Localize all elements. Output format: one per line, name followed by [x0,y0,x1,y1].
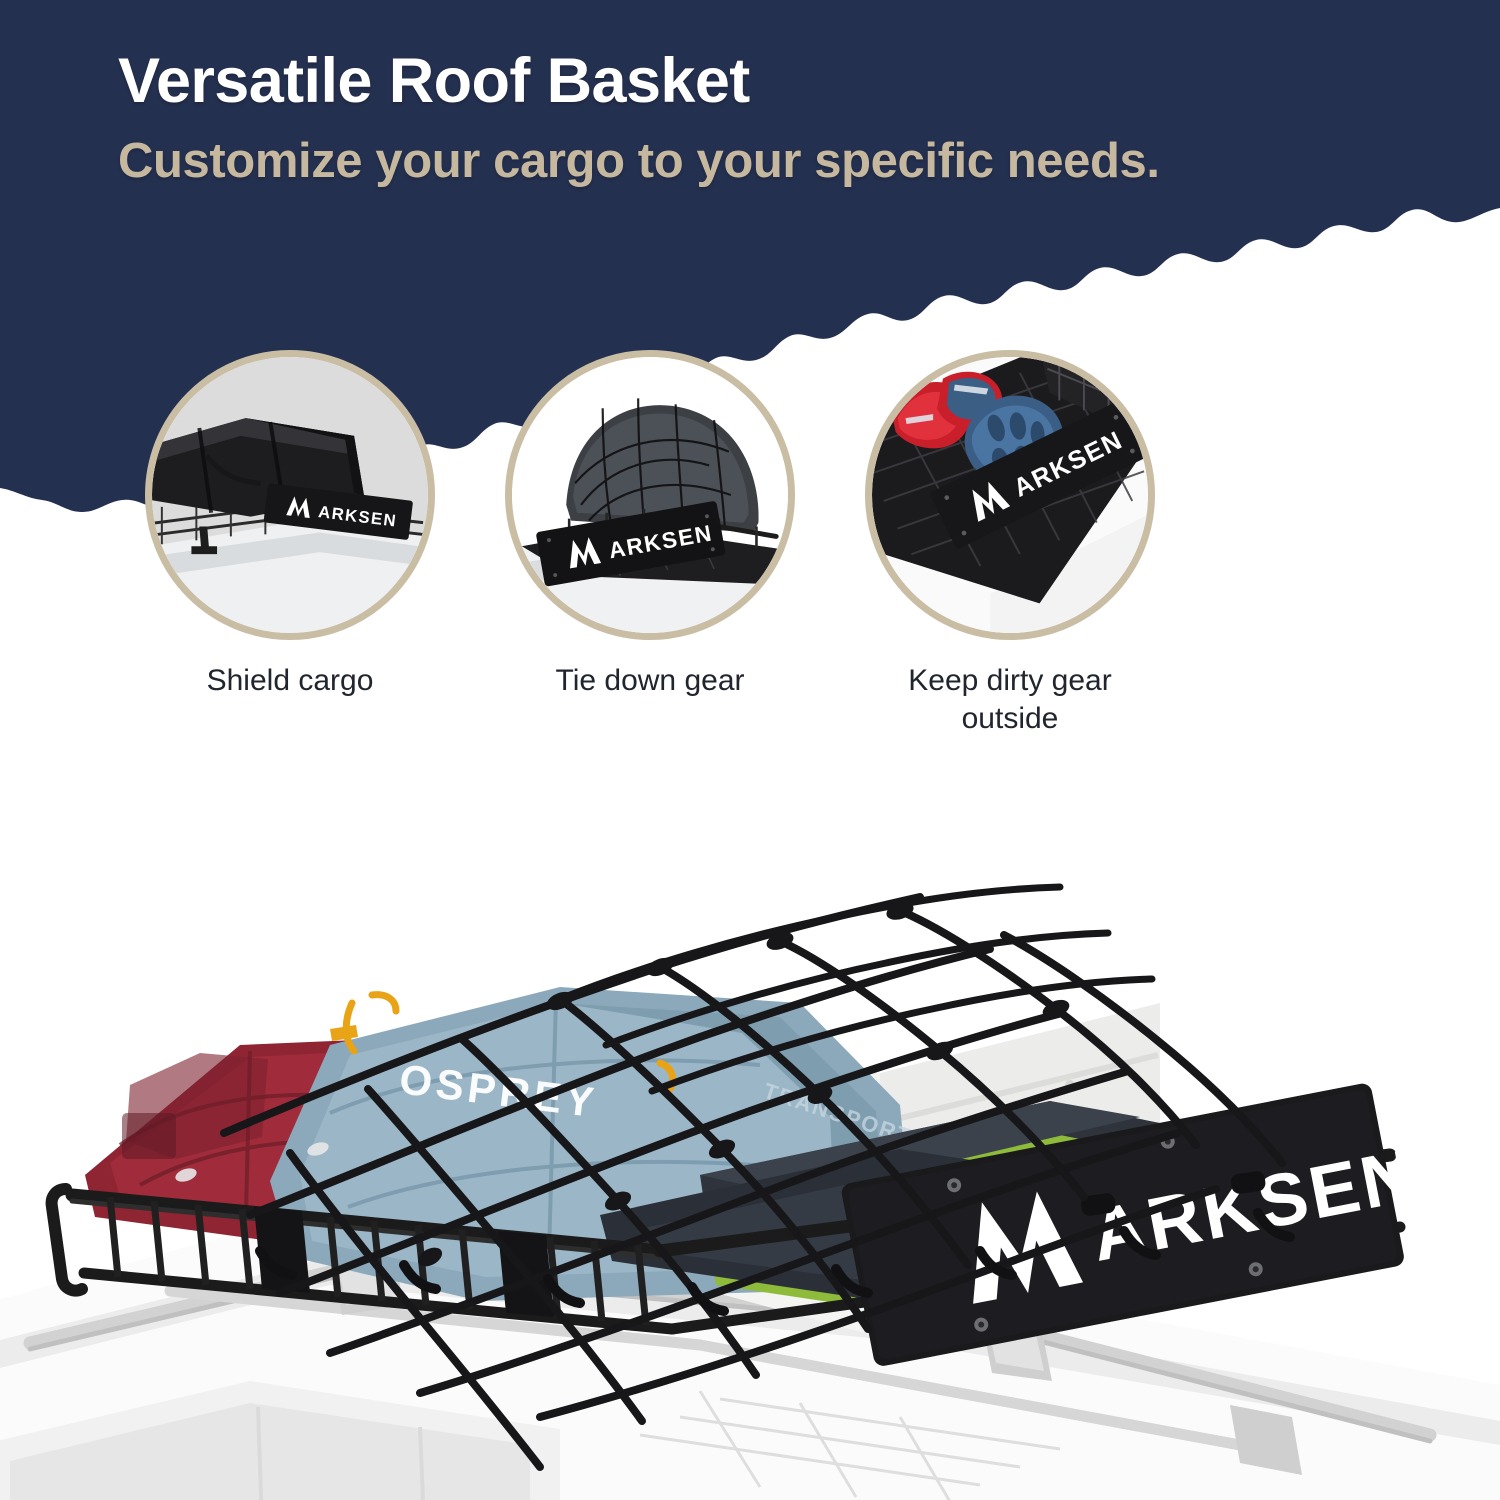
page-subtitle: Customize your cargo to your specific ne… [118,133,1268,190]
feature-thumbnail-keep-dirty-gear: ARKSEN [865,350,1155,640]
header-text-block: Versatile Roof Basket Customize your car… [0,0,1340,190]
feature-item-tie-down-gear: ARKSEN Tie down gear [480,350,820,700]
feature-caption-tie-down-gear: Tie down gear [556,662,745,700]
feature-caption-shield-cargo: Shield cargo [207,662,374,700]
thumbnail-image-keep-dirty-gear: ARKSEN [872,357,1148,633]
thumbnail-image-shield-cargo: ARKSEN [152,357,428,633]
hero-product-image: OSPREY TRANSPORTER [0,745,1500,1500]
thumbnail-image-tie-down-gear: ARKSEN [512,357,788,633]
page-title: Versatile Roof Basket [118,48,1340,115]
feature-item-shield-cargo: ARKSEN Shield cargo [120,350,460,700]
feature-list: ARKSEN Shield cargo [0,350,1500,738]
feature-item-keep-dirty-gear-outside: ARKSEN Keep dirty gear outside [840,350,1180,738]
feature-caption-keep-dirty-gear: Keep dirty gear outside [860,662,1160,738]
feature-thumbnail-shield-cargo: ARKSEN [145,350,435,640]
feature-thumbnail-tie-down-gear: ARKSEN [505,350,795,640]
